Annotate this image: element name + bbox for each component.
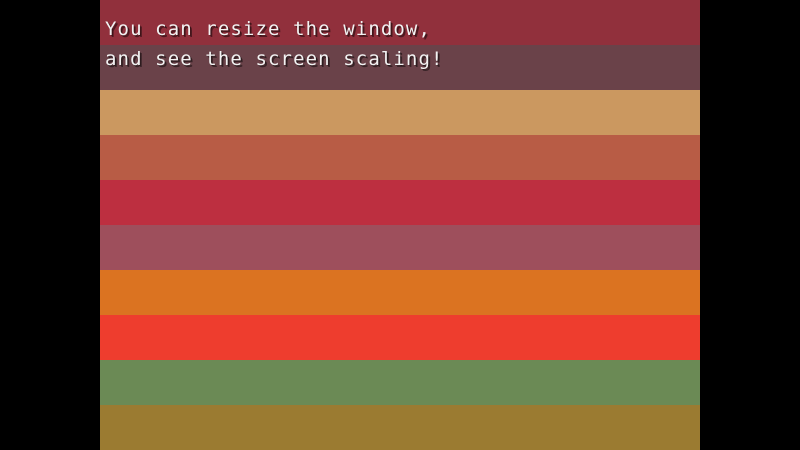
application-window: You can resize the window, and see the s… — [0, 0, 800, 450]
band-bright-red — [100, 315, 700, 360]
band-terracotta — [100, 135, 700, 180]
band-dark-crimson — [100, 0, 700, 45]
band-olive-bronze — [100, 405, 700, 450]
band-sage-green — [100, 360, 700, 405]
letterbox-bar-left — [0, 0, 100, 450]
band-orange — [100, 270, 700, 315]
scaled-viewport[interactable]: You can resize the window, and see the s… — [100, 0, 700, 450]
band-sand-tan — [100, 90, 700, 135]
band-muted-plum — [100, 45, 700, 90]
band-dusty-rose — [100, 225, 700, 270]
band-crimson-red — [100, 180, 700, 225]
letterbox-bar-right — [700, 0, 800, 450]
color-band-stack — [100, 0, 700, 450]
